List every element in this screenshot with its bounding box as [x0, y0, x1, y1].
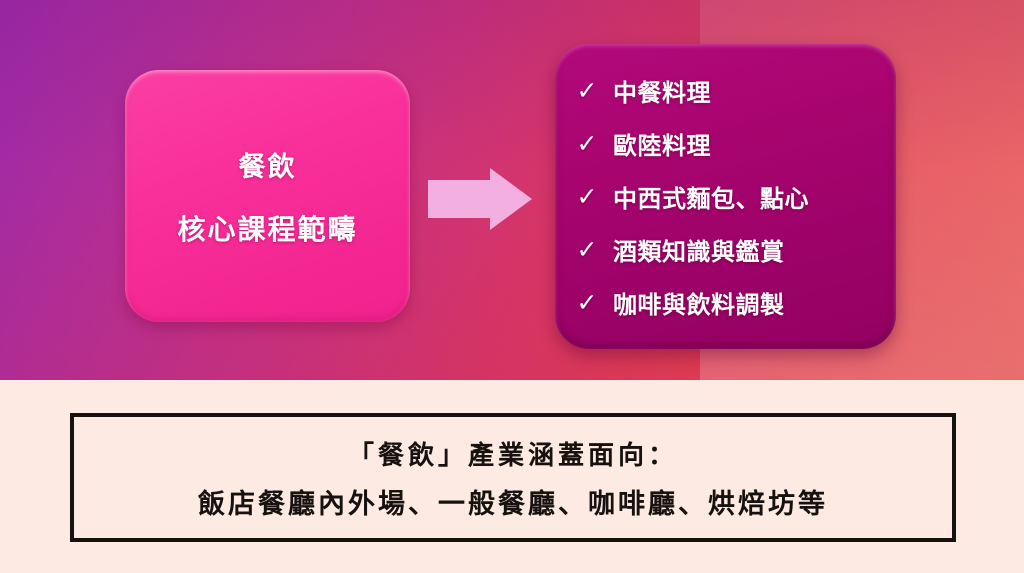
check-icon: ✓	[575, 237, 599, 262]
core-subject-subtitle: 核心課程範疇	[177, 208, 357, 248]
slide-root: 餐飲 核心課程範疇 ✓ 中餐料理 ✓ 歐陸料理 ✓ 中西式麵包、點心 ✓ 酒類知…	[0, 0, 1024, 573]
arrow-right-icon	[428, 166, 534, 232]
check-icon: ✓	[575, 78, 599, 103]
check-icon: ✓	[575, 131, 599, 156]
core-subject-box: 餐飲 核心課程範疇	[125, 70, 410, 322]
caption-box: 「餐飲」產業涵蓋面向： 飯店餐廳內外場、一般餐廳、咖啡廳、烘焙坊等	[70, 413, 956, 542]
check-icon: ✓	[575, 184, 599, 209]
check-icon: ✓	[575, 290, 599, 315]
caption-line-1: 「餐飲」產業涵蓋面向：	[348, 435, 678, 472]
list-item: ✓ 中西式麵包、點心	[575, 178, 896, 216]
caption-area: 「餐飲」產業涵蓋面向： 飯店餐廳內外場、一般餐廳、咖啡廳、烘焙坊等	[0, 380, 1024, 573]
list-item-label: 中西式麵包、點心	[613, 179, 809, 214]
caption-line-2: 飯店餐廳內外場、一般餐廳、咖啡廳、烘焙坊等	[198, 482, 828, 521]
list-item: ✓ 酒類知識與鑑賞	[575, 231, 896, 269]
list-item-label: 咖啡與飲料調製	[613, 285, 785, 320]
list-item: ✓ 歐陸料理	[575, 125, 896, 163]
core-subject-title: 餐飲	[239, 145, 297, 184]
list-item-label: 中餐料理	[613, 73, 711, 108]
course-scope-list-box: ✓ 中餐料理 ✓ 歐陸料理 ✓ 中西式麵包、點心 ✓ 酒類知識與鑑賞 ✓ 咖啡與…	[555, 44, 896, 349]
list-item-label: 酒類知識與鑑賞	[613, 232, 785, 267]
list-item: ✓ 咖啡與飲料調製	[575, 284, 896, 322]
list-item: ✓ 中餐料理	[575, 72, 896, 110]
list-item-label: 歐陸料理	[613, 126, 711, 161]
